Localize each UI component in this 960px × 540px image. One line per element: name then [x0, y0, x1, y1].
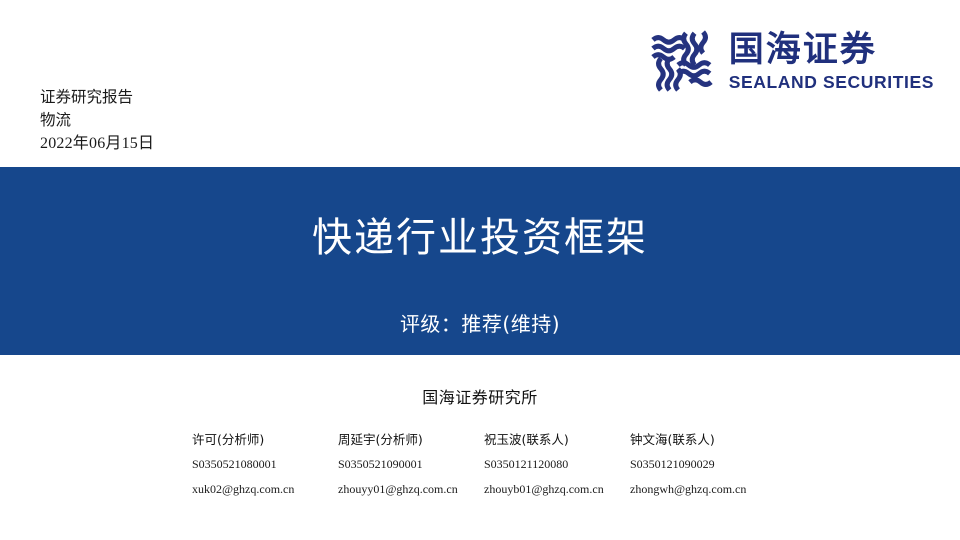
- report-meta-block: 证券研究报告 物流 2022年06月15日: [40, 86, 154, 155]
- company-name-cn: 国海证券: [729, 29, 934, 71]
- analyst-email[interactable]: xuk02@ghzq.com.cn: [192, 479, 338, 500]
- company-logo-text: 国海证券 SEALAND SECURITIES: [729, 29, 934, 93]
- analyst-email[interactable]: zhongwh@ghzq.com.cn: [630, 479, 776, 500]
- analyst-column: 钟文海(联系人) S0350121090029 zhongwh@ghzq.com…: [630, 430, 776, 500]
- title-band: 快递行业投资框架 评级：推荐(维持): [0, 167, 960, 355]
- sealand-wave-seal-icon: [649, 28, 715, 94]
- report-type-label: 证券研究报告: [40, 86, 154, 109]
- analyst-column: 周延宇(分析师) S0350521090001 zhouyy01@ghzq.co…: [338, 430, 484, 500]
- analyst-column: 祝玉波(联系人) S0350121120080 zhouyb01@ghzq.co…: [484, 430, 630, 500]
- analyst-license-code: S0350121120080: [484, 454, 630, 475]
- analyst-list: 许可(分析师) S0350521080001 xuk02@ghzq.com.cn…: [192, 430, 892, 500]
- company-logo: 国海证券 SEALAND SECURITIES: [649, 28, 934, 94]
- analyst-email[interactable]: zhouyy01@ghzq.com.cn: [338, 479, 484, 500]
- analyst-name: 周延宇(分析师): [338, 430, 484, 450]
- analyst-name: 祝玉波(联系人): [484, 430, 630, 450]
- analyst-name: 许可(分析师): [192, 430, 338, 450]
- analyst-column: 许可(分析师) S0350521080001 xuk02@ghzq.com.cn: [192, 430, 338, 500]
- company-name-en: SEALAND SECURITIES: [729, 71, 934, 93]
- analyst-license-code: S0350521080001: [192, 454, 338, 475]
- rating-label: 评级：推荐(维持): [0, 308, 960, 337]
- report-date-label: 2022年06月15日: [40, 132, 154, 155]
- report-cover-slide: 证券研究报告 物流 2022年06月15日: [0, 0, 960, 540]
- analyst-license-code: S0350521090001: [338, 454, 484, 475]
- analyst-email[interactable]: zhouyb01@ghzq.com.cn: [484, 479, 630, 500]
- analyst-name: 钟文海(联系人): [630, 430, 776, 450]
- industry-label: 物流: [40, 109, 154, 132]
- page-title: 快递行业投资框架: [0, 205, 960, 263]
- research-institute-label: 国海证券研究所: [0, 384, 960, 408]
- analyst-license-code: S0350121090029: [630, 454, 776, 475]
- slide-header: 证券研究报告 物流 2022年06月15日: [0, 0, 960, 167]
